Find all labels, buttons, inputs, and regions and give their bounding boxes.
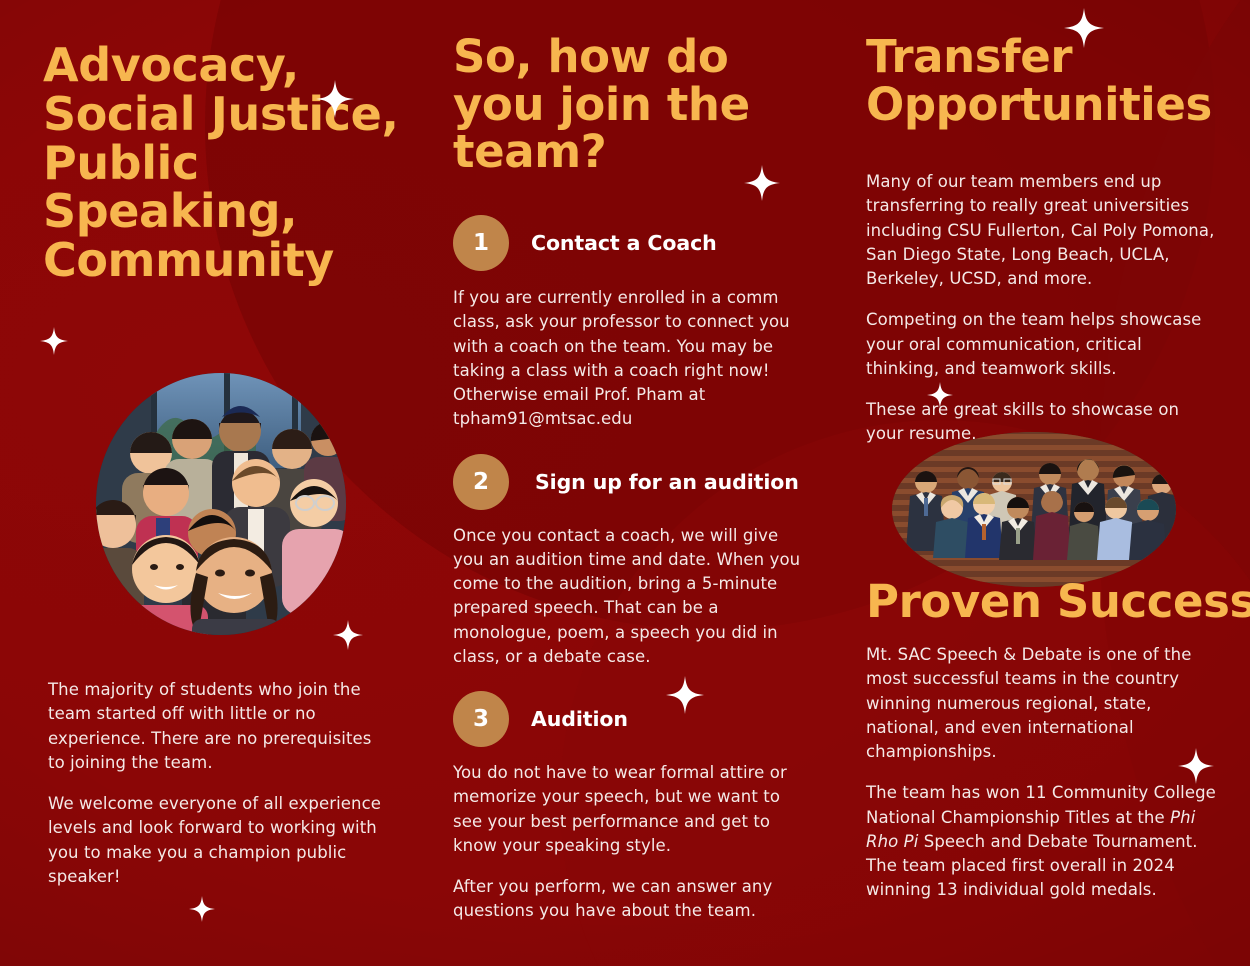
- left-paragraph-2: We welcome everyone of all experience le…: [48, 792, 393, 889]
- proven-success-title: Proven Success: [866, 578, 1250, 626]
- step-body: Once you contact a coach, we will give y…: [453, 524, 811, 670]
- proven-paragraph-2: The team has won 11 Community College Na…: [866, 781, 1216, 902]
- step-header: 2 Sign up for an audition: [453, 454, 828, 510]
- poster-canvas: Advocacy, Social Justice, Public Speakin…: [0, 0, 1250, 966]
- step-number-badge: 3: [453, 691, 509, 747]
- step-body: If you are currently enrolled in a comm …: [453, 286, 811, 432]
- step-paragraph: Once you contact a coach, we will give y…: [453, 524, 811, 670]
- middle-column-title: So, how do you join the team?: [453, 33, 783, 176]
- step-number-badge: 2: [453, 454, 509, 510]
- step-title: Audition: [531, 707, 628, 731]
- right-paragraph-1: Many of our team members end up transfer…: [866, 170, 1216, 291]
- left-paragraph-1: The majority of students who join the te…: [48, 678, 393, 775]
- proven-text-before: The team has won 11 Community College Na…: [866, 783, 1216, 826]
- proven-success-body: Mt. SAC Speech & Debate is one of the mo…: [866, 643, 1216, 903]
- proven-paragraph-1: Mt. SAC Speech & Debate is one of the mo…: [866, 643, 1216, 764]
- step-item: 1 Contact a Coach If you are currently e…: [453, 215, 828, 432]
- left-column-title: Advocacy, Social Justice, Public Speakin…: [43, 41, 433, 285]
- step-number-badge: 1: [453, 215, 509, 271]
- step-header: 3 Audition: [453, 691, 828, 747]
- step-paragraph: You do not have to wear formal attire or…: [453, 761, 811, 858]
- team-formal-photo: [892, 432, 1176, 587]
- join-steps-list: 1 Contact a Coach If you are currently e…: [453, 215, 828, 930]
- step-paragraph: After you perform, we can answer any que…: [453, 875, 811, 924]
- step-item: 2 Sign up for an audition Once you conta…: [453, 454, 828, 670]
- step-title: Sign up for an audition: [535, 470, 799, 494]
- step-title: Contact a Coach: [531, 231, 717, 255]
- step-body: You do not have to wear formal attire or…: [453, 761, 811, 924]
- right-paragraph-2: Competing on the team helps showcase you…: [866, 308, 1216, 381]
- step-paragraph: If you are currently enrolled in a comm …: [453, 286, 811, 432]
- step-item: 3 Audition You do not have to wear forma…: [453, 691, 828, 924]
- right-column-body: Many of our team members end up transfer…: [866, 170, 1216, 447]
- left-column-body: The majority of students who join the te…: [48, 678, 393, 889]
- sparkle-left-photo-icon: [333, 620, 363, 650]
- sparkle-left-bottom-icon: [189, 896, 215, 922]
- step-header: 1 Contact a Coach: [453, 215, 828, 271]
- right-column-title: Transfer Opportunities: [866, 33, 1196, 128]
- team-selfie-photo: [96, 373, 346, 635]
- sparkle-left-mid-icon: [40, 327, 68, 355]
